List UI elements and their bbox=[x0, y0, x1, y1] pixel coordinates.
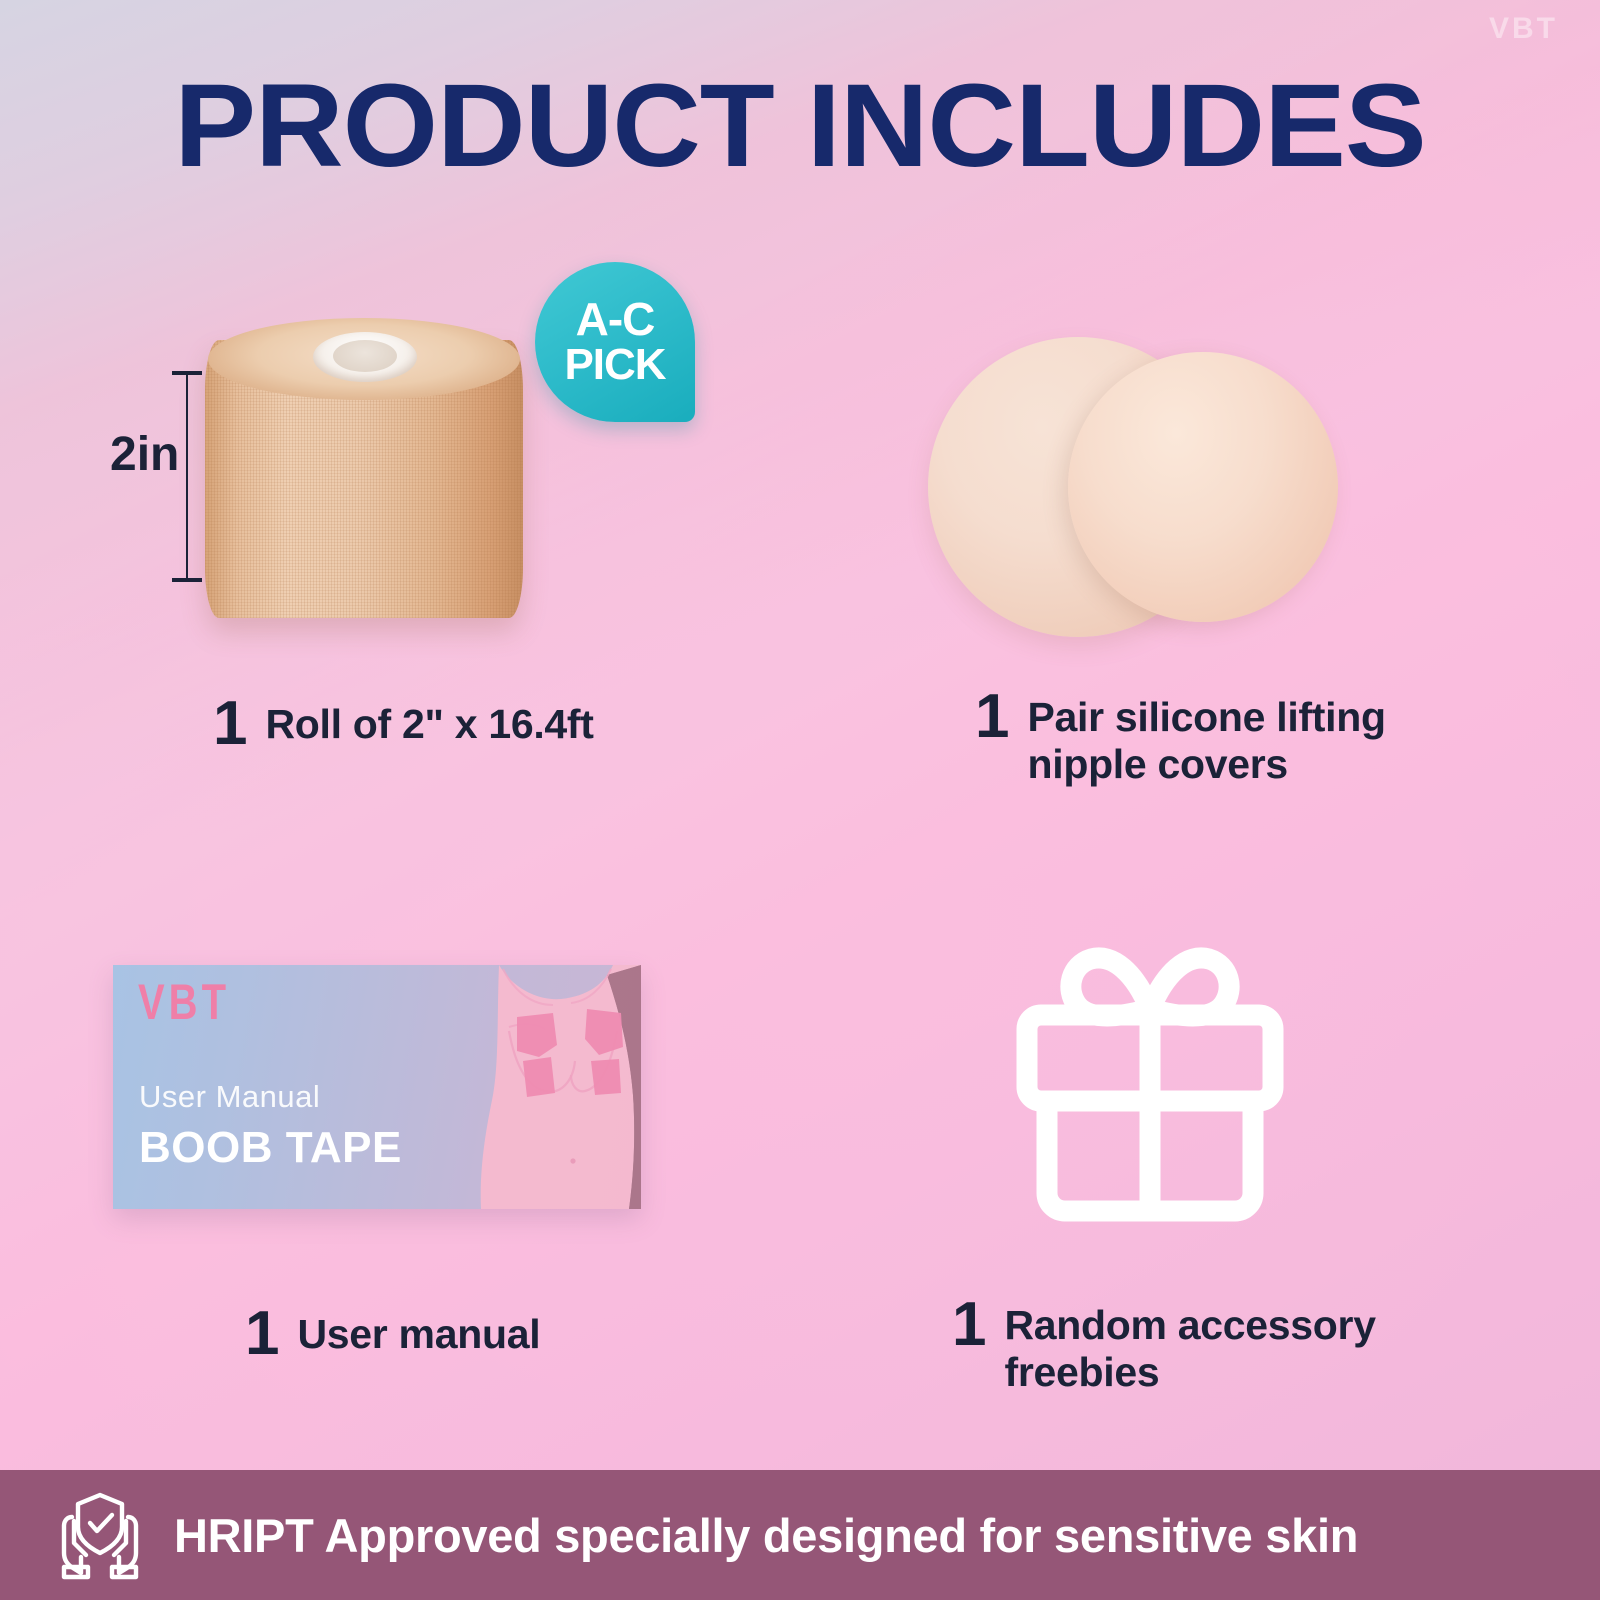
caption-tape-roll: 1 Roll of 2" x 16.4ft bbox=[213, 695, 594, 752]
nipple-cover-front bbox=[1068, 352, 1338, 622]
page-title: PRODUCT INCLUDES bbox=[0, 58, 1600, 194]
caption-label: Random accessory freebies bbox=[1004, 1296, 1375, 1395]
caption-count: 1 bbox=[952, 1296, 986, 1353]
bottom-banner: HRIPT Approved specially designed for se… bbox=[0, 1470, 1600, 1600]
dimension-cap-bottom bbox=[172, 578, 202, 582]
caption-freebies: 1 Random accessory freebies bbox=[952, 1296, 1376, 1395]
a-c-pick-badge: A-C PICK bbox=[535, 262, 695, 422]
manual-title: BOOB TAPE bbox=[139, 1123, 402, 1173]
caption-label-line-1: Random accessory bbox=[1004, 1302, 1375, 1348]
caption-label-line-2: freebies bbox=[1004, 1349, 1159, 1395]
brand-watermark: VBT bbox=[1489, 12, 1558, 46]
manual-subtitle: User Manual bbox=[139, 1079, 320, 1115]
caption-count: 1 bbox=[213, 695, 247, 752]
caption-count: 1 bbox=[245, 1305, 279, 1362]
badge-line-1: A-C bbox=[576, 296, 655, 342]
banner-text: HRIPT Approved specially designed for se… bbox=[174, 1508, 1358, 1563]
caption-label-line-1: Pair silicone lifting bbox=[1027, 694, 1385, 740]
caption-user-manual: 1 User manual bbox=[245, 1305, 540, 1362]
badge-line-2: PICK bbox=[564, 342, 665, 388]
shield-check-hands-icon bbox=[52, 1487, 148, 1583]
caption-label: Roll of 2" x 16.4ft bbox=[265, 695, 593, 748]
caption-nipple-covers: 1 Pair silicone lifting nipple covers bbox=[975, 688, 1386, 787]
dimension-label: 2in bbox=[110, 427, 179, 482]
user-manual-cover: VBT User Manual BOOB TAPE bbox=[113, 965, 641, 1209]
caption-label: Pair silicone lifting nipple covers bbox=[1027, 688, 1385, 787]
manual-brand-logo: VBT bbox=[138, 975, 230, 1031]
tape-roll-core-hole bbox=[333, 340, 397, 372]
gift-box-icon bbox=[985, 925, 1315, 1255]
dimension-line bbox=[186, 372, 188, 582]
tape-roll-image bbox=[205, 318, 525, 636]
caption-label-line-2: nipple covers bbox=[1027, 741, 1287, 787]
torso-illustration-icon bbox=[421, 965, 641, 1209]
caption-count: 1 bbox=[975, 688, 1009, 745]
caption-label: User manual bbox=[297, 1305, 540, 1358]
